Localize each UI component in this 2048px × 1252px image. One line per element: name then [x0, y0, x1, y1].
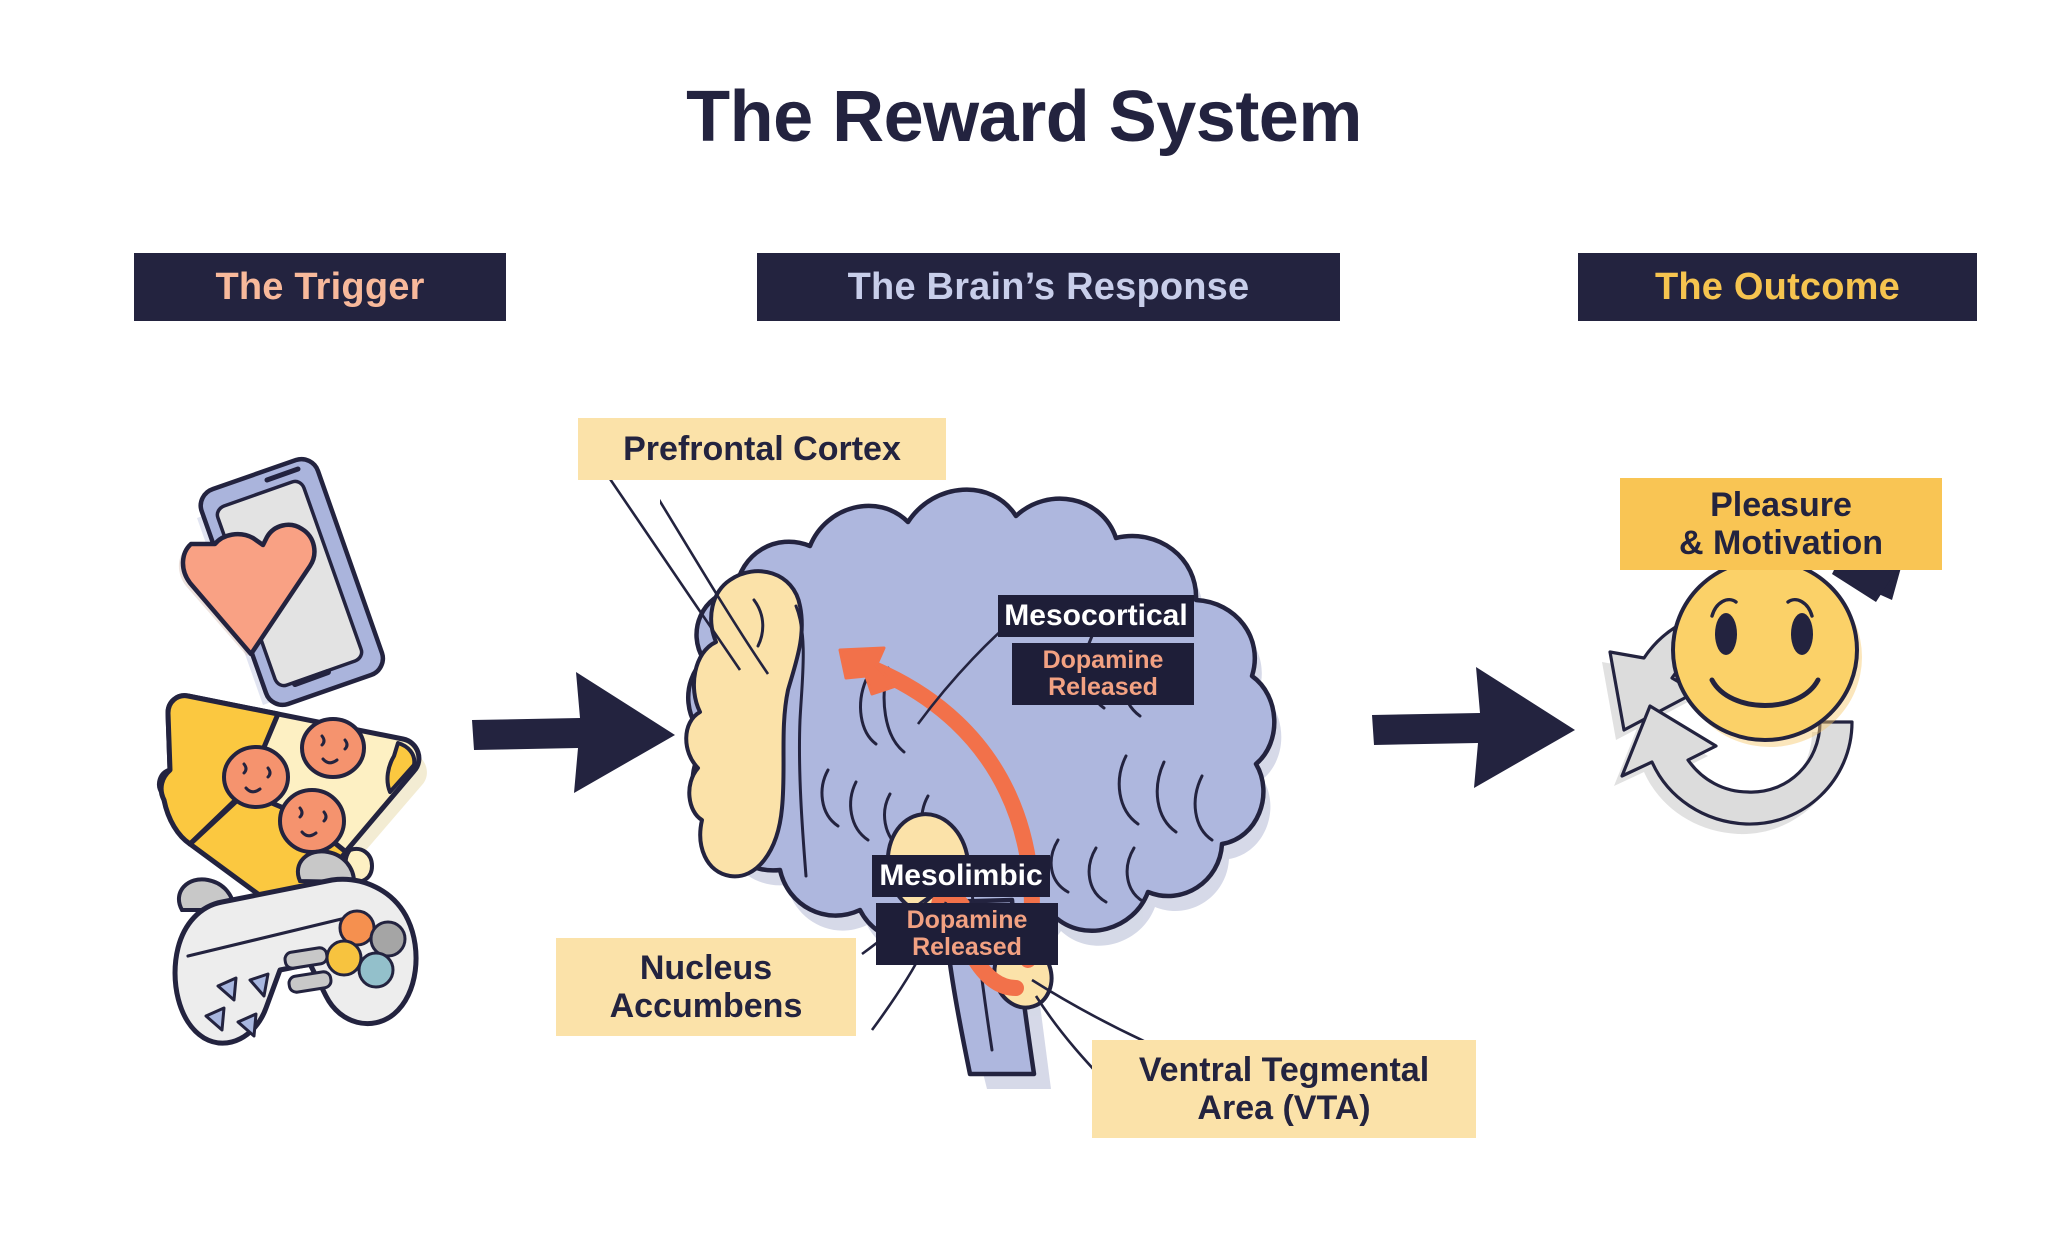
callout-pleasure-line2: & Motivation	[1679, 524, 1883, 562]
badge-mesolimbic-name-label: Mesolimbic	[879, 859, 1042, 893]
callout-prefrontal-cortex-label: Prefrontal Cortex	[623, 430, 901, 468]
flow-arrow-brain-to-outcome	[1370, 655, 1590, 805]
badge-mesolimbic-status-line2: Released	[912, 933, 1022, 961]
section-header-trigger-label: The Trigger	[215, 266, 424, 309]
smiley-right-eye	[1791, 613, 1813, 655]
callout-vta-line1: Ventral Tegmental	[1139, 1051, 1429, 1089]
badge-mesolimbic-status-label: Dopamine Released	[907, 907, 1028, 961]
section-header-trigger: The Trigger	[134, 253, 506, 321]
callout-vta-line2: Area (VTA)	[1197, 1089, 1370, 1127]
trigger-illustration-group	[150, 440, 510, 1060]
callout-pleasure-motivation-label: Pleasure & Motivation	[1679, 486, 1883, 562]
callout-nucleus-accumbens: Nucleus Accumbens	[556, 938, 856, 1036]
callout-vta-label: Ventral Tegmental Area (VTA)	[1139, 1051, 1429, 1127]
badge-mesocortical-name: Mesocortical	[998, 595, 1194, 637]
badge-mesolimbic-name: Mesolimbic	[872, 855, 1050, 897]
callout-pleasure-motivation: Pleasure & Motivation	[1620, 478, 1942, 570]
badge-mesolimbic-status: Dopamine Released	[876, 903, 1058, 965]
section-header-brain: The Brain’s Response	[757, 253, 1340, 321]
smartphone-heart-icon	[179, 459, 383, 705]
callout-nacc-line2: Accumbens	[610, 987, 803, 1025]
smiley-face-icon	[1673, 560, 1862, 747]
callout-pleasure-line1: Pleasure	[1710, 486, 1852, 524]
page-title: The Reward System	[0, 78, 2048, 157]
callout-prefrontal-cortex: Prefrontal Cortex	[578, 418, 946, 480]
callout-ventral-tegmental-area: Ventral Tegmental Area (VTA)	[1092, 1040, 1476, 1138]
badge-mesocortical-status-line1: Dopamine	[1043, 646, 1164, 674]
badge-mesocortical-status-label: Dopamine Released	[1043, 647, 1164, 701]
outcome-illustration	[1580, 530, 1980, 900]
smiley-left-eye	[1715, 613, 1737, 655]
badge-mesolimbic-status-line1: Dopamine	[907, 906, 1028, 934]
badge-mesocortical-name-label: Mesocortical	[1004, 599, 1187, 633]
section-header-outcome: The Outcome	[1578, 253, 1977, 321]
callout-nacc-line1: Nucleus	[640, 949, 772, 987]
badge-mesocortical-status-line2: Released	[1048, 673, 1158, 701]
callout-nucleus-accumbens-label: Nucleus Accumbens	[610, 949, 803, 1025]
section-header-outcome-label: The Outcome	[1655, 266, 1900, 309]
section-header-brain-label: The Brain’s Response	[848, 266, 1250, 309]
badge-mesocortical-status: Dopamine Released	[1012, 643, 1194, 705]
